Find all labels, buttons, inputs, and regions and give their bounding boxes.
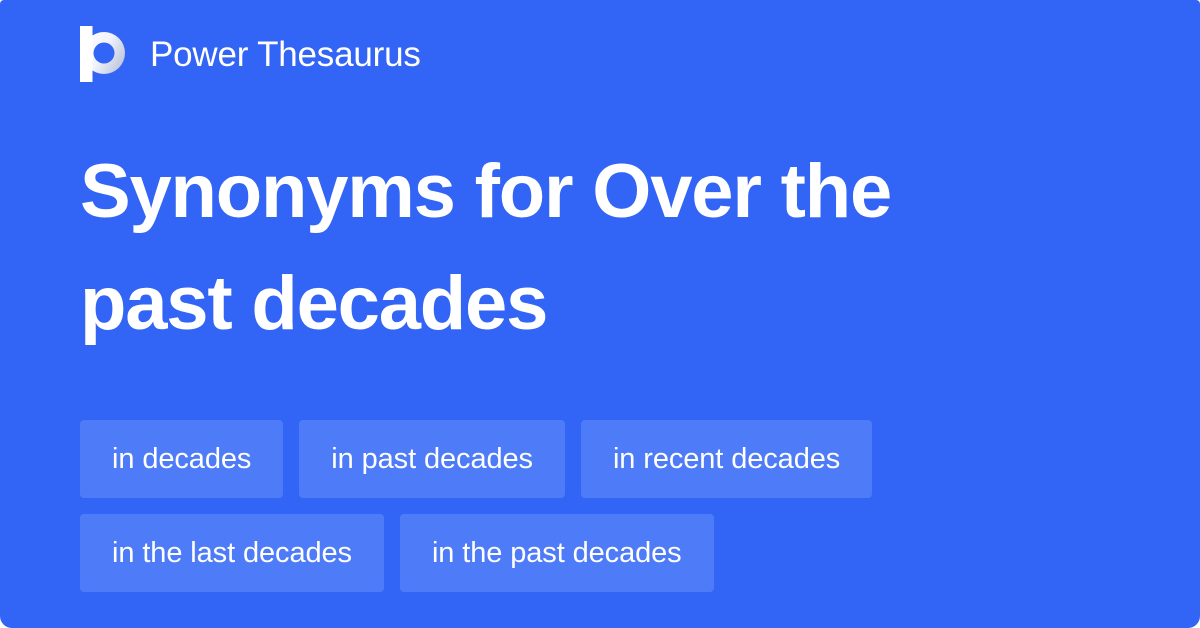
synonym-chip[interactable]: in recent decades bbox=[581, 420, 872, 498]
social-share-card: Power Thesaurus Synonyms for Over the pa… bbox=[0, 0, 1200, 628]
brand-name: Power Thesaurus bbox=[150, 37, 421, 72]
synonym-chip[interactable]: in decades bbox=[80, 420, 283, 498]
power-thesaurus-b-logo-icon bbox=[80, 26, 130, 82]
synonym-chip-list: in decades in past decades in recent dec… bbox=[80, 420, 1120, 592]
synonym-chip[interactable]: in the last decades bbox=[80, 514, 384, 592]
synonym-chip[interactable]: in past decades bbox=[299, 420, 565, 498]
brand-header[interactable]: Power Thesaurus bbox=[80, 26, 421, 82]
synonym-chip[interactable]: in the past decades bbox=[400, 514, 714, 592]
page-title: Synonyms for Over the past decades bbox=[80, 136, 1040, 360]
